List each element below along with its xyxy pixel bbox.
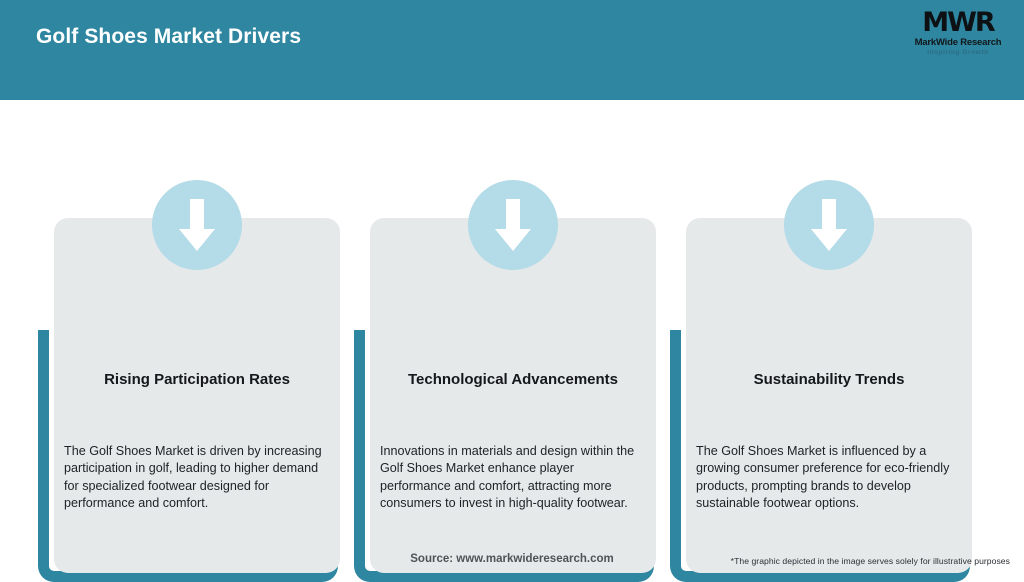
logo-company-name: MarkWide Research (906, 37, 1010, 48)
card-panel: Sustainability Trends The Golf Shoes Mar… (686, 218, 972, 573)
card-body-text: The Golf Shoes Market is driven by incre… (64, 443, 332, 513)
down-arrow-icon (784, 180, 874, 270)
card-body-text: The Golf Shoes Market is influenced by a… (696, 443, 964, 513)
driver-card-3: Sustainability Trends The Golf Shoes Mar… (686, 140, 972, 540)
driver-card-2: Technological Advancements Innovations i… (370, 140, 656, 540)
disclaimer-note: *The graphic depicted in the image serve… (731, 556, 1010, 566)
card-title: Rising Participation Rates (64, 370, 330, 389)
driver-cards-container: Rising Participation Rates The Golf Shoe… (0, 100, 1024, 540)
card-panel: Rising Participation Rates The Golf Shoe… (54, 218, 340, 573)
card-title: Technological Advancements (380, 370, 646, 389)
down-arrow-icon (468, 180, 558, 270)
down-arrow-icon (152, 180, 242, 270)
card-title: Sustainability Trends (696, 370, 962, 389)
brand-logo: MWR MarkWide Research Inspiring Growth (906, 8, 1010, 64)
logo-tagline: Inspiring Growth (906, 48, 1010, 57)
driver-card-1: Rising Participation Rates The Golf Shoe… (54, 140, 340, 540)
page-title: Golf Shoes Market Drivers (36, 25, 301, 49)
card-body-text: Innovations in materials and design with… (380, 443, 648, 513)
logo-monogram: MWR (906, 8, 1010, 37)
card-panel: Technological Advancements Innovations i… (370, 218, 656, 573)
page-header: Golf Shoes Market Drivers MWR MarkWide R… (0, 0, 1024, 100)
